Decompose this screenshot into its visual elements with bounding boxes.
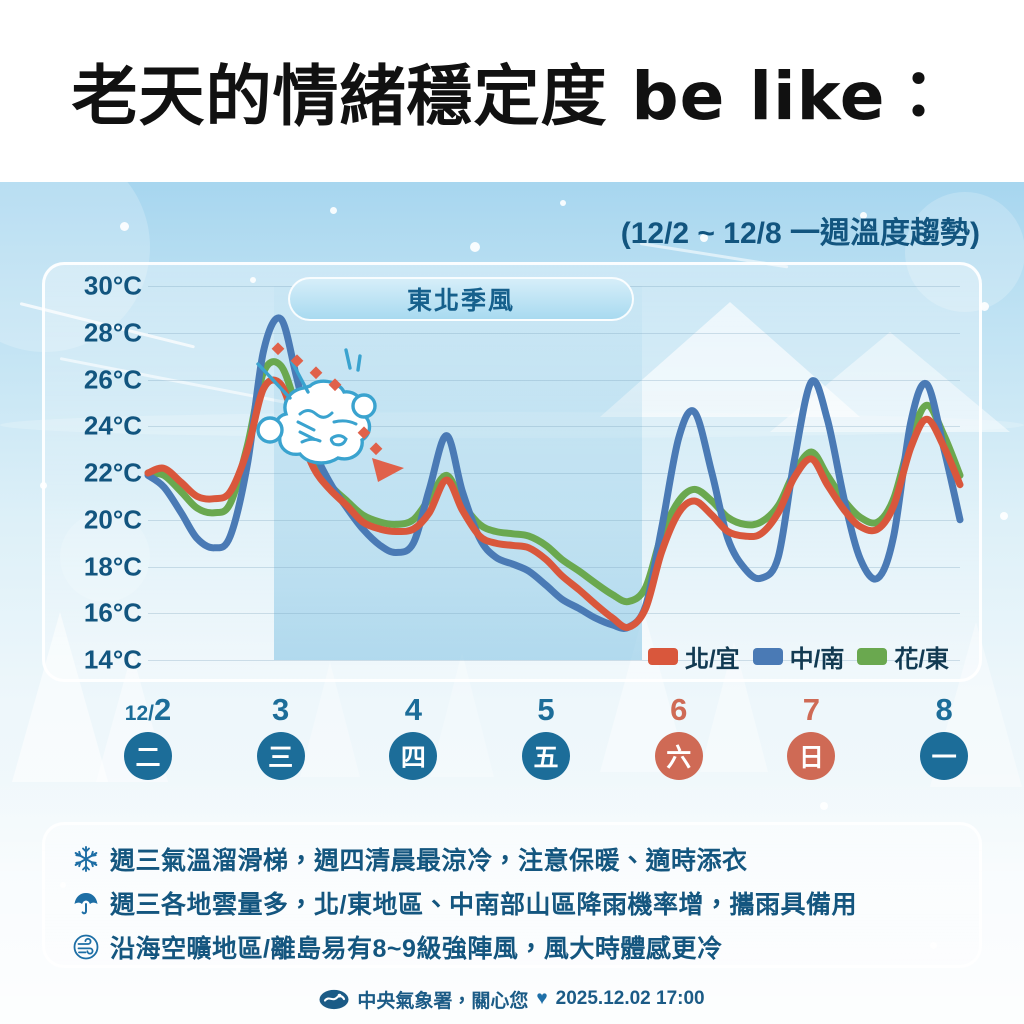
legend-swatch xyxy=(648,648,678,665)
legend-label: 中/南 xyxy=(790,639,845,674)
umbrella-icon xyxy=(71,888,101,918)
snow-dot xyxy=(470,242,480,252)
footer: 中央氣象署，關心您 ♥ 2025.12.02 17:00 xyxy=(0,982,1024,1016)
x-axis-date-label: 12/2 xyxy=(88,694,208,725)
weekday-badge: 六 xyxy=(655,732,703,780)
legend-item: 北/宜 xyxy=(648,639,740,674)
legend-item: 中/南 xyxy=(753,639,845,674)
x-axis-date-label: 7 xyxy=(751,694,871,725)
weekday-badge: 四 xyxy=(389,732,437,780)
legend-label: 北/宜 xyxy=(685,639,740,674)
x-axis-month: 12/ xyxy=(125,702,154,725)
legend-item: 花/東 xyxy=(857,639,949,674)
snow-dot xyxy=(120,222,129,231)
x-axis-date-label: 5 xyxy=(486,694,606,725)
footer-agency: 中央氣象署，關心您 xyxy=(357,986,528,1013)
page-title: 老天的情緒穩定度 be like： xyxy=(71,43,952,139)
y-axis-labels: 30°C28°C26°C24°C22°C20°C18°C16°C14°C xyxy=(46,286,142,660)
heart-icon: ♥ xyxy=(536,988,547,1010)
y-axis-tick-label: 26°C xyxy=(84,364,142,395)
x-axis-tick: 7日 xyxy=(751,694,871,780)
x-axis-date-label: 8 xyxy=(884,694,1004,725)
note-row: 週三各地雲量多，北/東地區、中南部山區降雨機率增，攜雨具備用 xyxy=(71,881,979,925)
snow-dot xyxy=(1000,512,1008,520)
x-axis-date-label: 4 xyxy=(353,694,473,725)
red-dotted-down-arrow xyxy=(372,458,404,482)
note-text: 週三氣溫溜滑梯，週四清晨最涼冷，注意保暖、適時添衣 xyxy=(110,841,748,877)
note-text: 沿海空曠地區/離島易有8~9級強陣風，風大時體感更冷 xyxy=(110,929,722,965)
x-axis-tick: 8一 xyxy=(884,694,1004,780)
x-axis-date-label: 3 xyxy=(221,694,341,725)
note-row: 週三氣溫溜滑梯，週四清晨最涼冷，注意保暖、適時添衣 xyxy=(71,837,979,881)
x-axis-tick: 3三 xyxy=(221,694,341,780)
snowflake-icon xyxy=(71,844,101,874)
x-axis-date-label: 6 xyxy=(619,694,739,725)
title-band: 老天的情緒穩定度 be like： xyxy=(0,0,1024,182)
weekday-badge: 日 xyxy=(787,732,835,780)
x-axis-day: 8 xyxy=(935,692,952,727)
legend-label: 花/東 xyxy=(894,639,949,674)
y-axis-tick-label: 20°C xyxy=(84,504,142,535)
cwa-logo-icon xyxy=(319,989,349,1010)
weekday-badge: 五 xyxy=(522,732,570,780)
y-axis-tick-label: 24°C xyxy=(84,411,142,442)
y-axis-tick-label: 30°C xyxy=(84,271,142,302)
notes-card: 週三氣溫溜滑梯，週四清晨最涼冷，注意保暖、適時添衣 週三各地雲量多，北/東地區、… xyxy=(42,822,982,968)
x-axis-day: 6 xyxy=(670,692,687,727)
chart-subtitle: (12/2 ~ 12/8 一週溫度趨勢) xyxy=(520,208,980,252)
snow-dot xyxy=(560,200,566,206)
x-axis-day: 5 xyxy=(537,692,554,727)
x-axis: 12/2二3三4四5五6六7日8一 xyxy=(0,694,1024,794)
y-axis-tick-label: 18°C xyxy=(84,551,142,582)
x-axis-day: 7 xyxy=(803,692,820,727)
monsoon-badge-label: 東北季風 xyxy=(407,281,515,317)
note-text: 週三各地雲量多，北/東地區、中南部山區降雨機率增，攜雨具備用 xyxy=(110,885,857,921)
x-axis-tick: 4四 xyxy=(353,694,473,780)
legend-swatch xyxy=(857,648,887,665)
y-axis-tick-label: 14°C xyxy=(84,645,142,676)
legend-swatch xyxy=(753,648,783,665)
monsoon-badge: 東北季風 xyxy=(288,277,634,321)
wind-icon xyxy=(71,932,101,962)
snow-dot xyxy=(330,207,337,214)
snow-dot xyxy=(820,802,828,810)
y-axis-tick-label: 16°C xyxy=(84,598,142,629)
x-axis-tick: 5五 xyxy=(486,694,606,780)
x-axis-tick: 12/2二 xyxy=(88,694,208,780)
infographic-root: 老天的情緒穩定度 be like： xyxy=(0,0,1024,1024)
y-axis-tick-label: 28°C xyxy=(84,317,142,348)
weekday-badge: 二 xyxy=(124,732,172,780)
weekday-badge: 一 xyxy=(920,732,968,780)
chart-legend: 北/宜中/南花/東 xyxy=(648,640,949,672)
x-axis-day: 4 xyxy=(405,692,422,727)
x-axis-day: 2 xyxy=(154,692,171,727)
dizzy-face-doodle xyxy=(248,322,408,492)
x-axis-tick: 6六 xyxy=(619,694,739,780)
y-axis-tick-label: 22°C xyxy=(84,458,142,489)
weekday-badge: 三 xyxy=(257,732,305,780)
footer-timestamp: 2025.12.02 17:00 xyxy=(556,988,705,1010)
note-row: 沿海空曠地區/離島易有8~9級強陣風，風大時體感更冷 xyxy=(71,925,979,969)
x-axis-day: 3 xyxy=(272,692,289,727)
